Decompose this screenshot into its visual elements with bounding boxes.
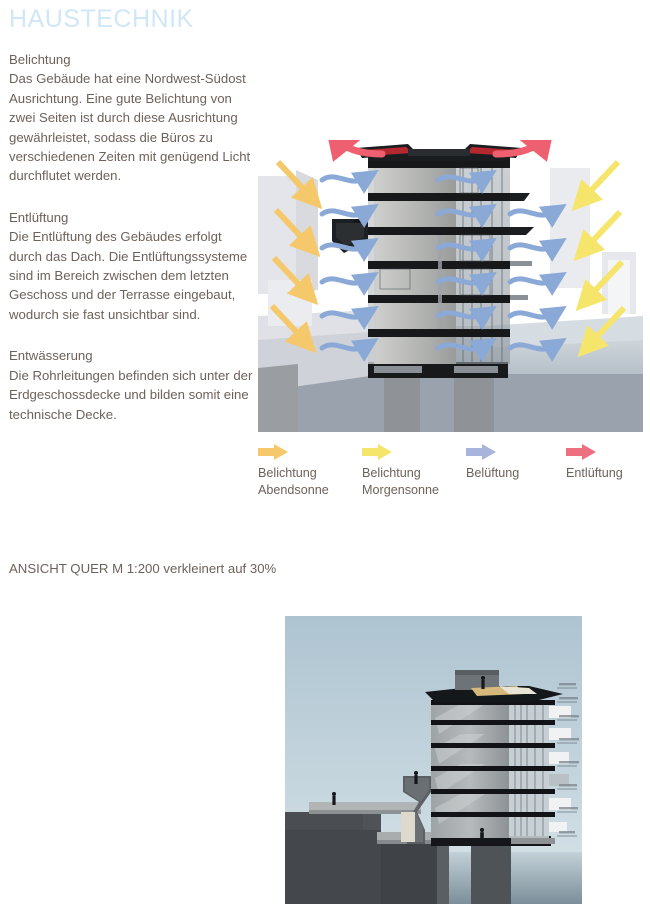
legend-label: Belichtung Abendsonne xyxy=(258,465,329,498)
legend-item-belichtung-morgensonne: Belichtung Morgensonne xyxy=(362,444,439,498)
cross-section-elevation-render xyxy=(285,616,582,904)
section-caption: ANSICHT QUER M 1:200 verkleinert auf 30% xyxy=(9,560,276,578)
legend-label: Belichtung Morgensonne xyxy=(362,465,439,498)
paragraph-body: Die Rohrleitungen befinden sich unter de… xyxy=(9,366,257,424)
text-block-entwaesserung: Entwässerung Die Rohrleitungen befinden … xyxy=(9,346,257,424)
legend-item-belueftung: Belüftung xyxy=(466,444,519,482)
legend-label: Belüftung xyxy=(466,465,519,482)
paragraph-body: Das Gebäude hat eine Nordwest-Südost Aus… xyxy=(9,69,257,185)
paragraph-heading: Belichtung xyxy=(9,50,257,69)
text-block-belichtung: Belichtung Das Gebäude hat eine Nordwest… xyxy=(9,50,257,186)
building-section-climate-diagram xyxy=(258,140,643,432)
page-title: HAUSTECHNIK xyxy=(9,6,194,34)
arrow-right-icon xyxy=(362,444,392,460)
legend-item-belichtung-abendsonne: Belichtung Abendsonne xyxy=(258,444,329,498)
render-canvas xyxy=(285,616,582,904)
text-block-entlueftung: Entlüftung Die Entlüftung des Gebäudes e… xyxy=(9,208,257,324)
arrow-right-icon xyxy=(258,444,288,460)
paragraph-heading: Entwässerung xyxy=(9,346,257,365)
legend-item-entlueftung: Entlüftung xyxy=(566,444,623,482)
arrow-right-icon xyxy=(566,444,596,460)
paragraph-heading: Entlüftung xyxy=(9,208,257,227)
paragraph-body: Die Entlüftung des Gebäudes erfolgt durc… xyxy=(9,227,257,324)
text-column: Belichtung Das Gebäude hat eine Nordwest… xyxy=(9,50,257,424)
diagram-legend: Belichtung Abendsonne Belichtung Morgens… xyxy=(258,444,646,506)
arrow-right-icon xyxy=(466,444,496,460)
diagram-canvas xyxy=(258,140,643,432)
legend-label: Entlüftung xyxy=(566,465,623,482)
presentation-page: HAUSTECHNIK Belichtung Das Gebäude hat e… xyxy=(0,0,650,907)
